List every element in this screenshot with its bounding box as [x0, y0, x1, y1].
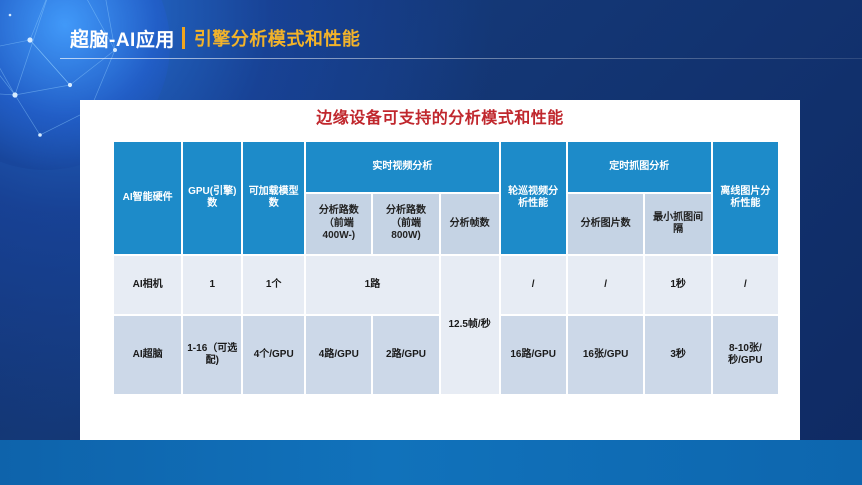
col-header-offline-image-performance: 离线图片分析性能 — [713, 142, 778, 254]
cell-gpu-count: 1-16（可选配) — [183, 316, 241, 394]
cell-offline-perf: / — [713, 256, 778, 314]
col-header-channels-400w: 分析路数（前端400W-) — [306, 194, 371, 254]
cell-gpu-count: 1 — [183, 256, 241, 314]
cell-frame-rate: 12.5帧/秒 — [441, 256, 499, 394]
col-header-scheduled-capture-analysis: 定时抓图分析 — [568, 142, 711, 192]
cell-channels-merged: 1路 — [306, 256, 438, 314]
title-subtitle: 引擎分析模式和性能 — [194, 25, 361, 51]
table-header-group-row: AI智能硬件 GPU(引擎)数 可加载模型数 实时视频分析 轮巡视频分析性能 定… — [114, 142, 778, 192]
col-header-patrol-video-performance: 轮巡视频分析性能 — [501, 142, 566, 254]
cell-channels-800w: 2路/GPU — [373, 316, 438, 394]
table-row: AI相机 1 1个 1路 12.5帧/秒 / / 1秒 / — [114, 256, 778, 314]
col-header-image-count: 分析图片数 — [568, 194, 644, 254]
cell-patrol-perf: / — [501, 256, 566, 314]
cell-min-interval: 3秒 — [645, 316, 710, 394]
cell-hardware: AI超脑 — [114, 316, 181, 394]
col-header-model-count: 可加载模型数 — [243, 142, 304, 254]
col-header-frame-rate: 分析帧数 — [441, 194, 499, 254]
col-header-min-capture-interval: 最小抓图间隔 — [645, 194, 710, 254]
col-header-gpu-count: GPU(引擎)数 — [183, 142, 241, 254]
cell-patrol-perf: 16路/GPU — [501, 316, 566, 394]
bottom-accent-band — [0, 440, 862, 485]
title-underline — [60, 58, 862, 59]
col-header-channels-800w: 分析路数（前端800W) — [373, 194, 438, 254]
col-header-realtime-video-analysis: 实时视频分析 — [306, 142, 498, 192]
title-divider-icon — [182, 27, 185, 49]
cell-model-count: 4个/GPU — [243, 316, 304, 394]
content-panel: 边缘设备可支持的分析模式和性能 AI智能硬件 GPU(引擎)数 可加载模型数 实… — [80, 100, 800, 440]
table-caption: 边缘设备可支持的分析模式和性能 — [80, 104, 800, 128]
title-main: 超脑-AI应用 — [70, 25, 175, 52]
cell-model-count: 1个 — [243, 256, 304, 314]
cell-offline-perf: 8-10张/秒/GPU — [713, 316, 778, 394]
cell-channels-400w: 4路/GPU — [306, 316, 371, 394]
cell-image-count: 16张/GPU — [568, 316, 644, 394]
cell-min-interval: 1秒 — [645, 256, 710, 314]
cell-hardware: AI相机 — [114, 256, 181, 314]
capability-table: AI智能硬件 GPU(引擎)数 可加载模型数 实时视频分析 轮巡视频分析性能 定… — [112, 140, 780, 396]
col-header-hardware: AI智能硬件 — [114, 142, 181, 254]
slide-title-bar: 超脑-AI应用 引擎分析模式和性能 — [0, 18, 862, 58]
cell-image-count: / — [568, 256, 644, 314]
